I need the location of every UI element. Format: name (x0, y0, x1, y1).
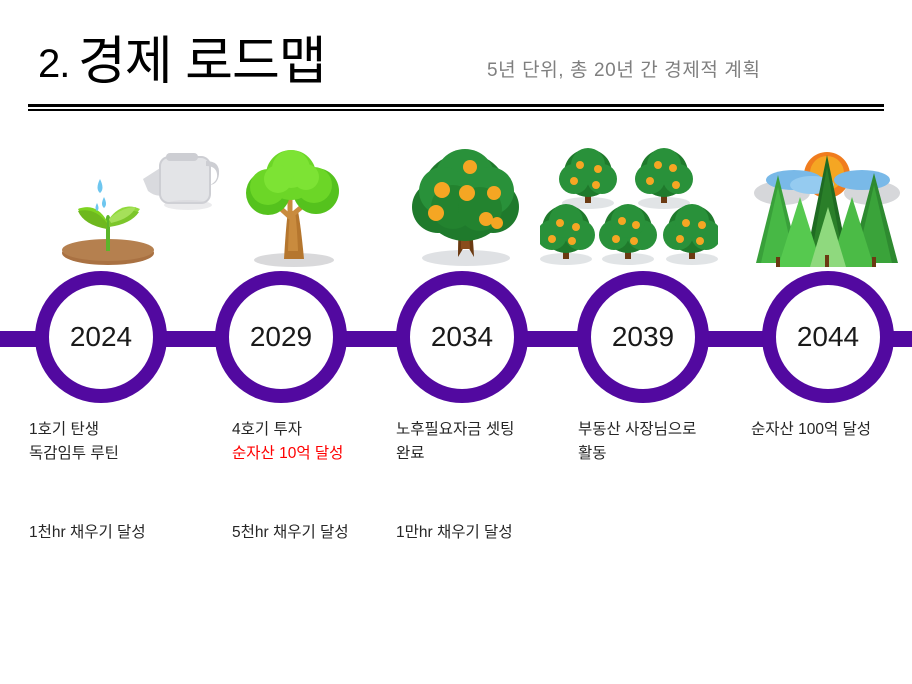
timeline-node-year: 2034 (431, 321, 493, 353)
timeline-node-2024[interactable]: 2024 (35, 271, 167, 403)
timeline-node-year: 2029 (250, 321, 312, 353)
caption-line-highlight: 순자산 10억 달성 (232, 442, 392, 466)
caption-line: 1호기 탄생 (29, 418, 214, 442)
fruit-tree-icon (398, 145, 533, 270)
icon-slot-2034 (398, 145, 533, 270)
icon-slot-2039 (540, 145, 718, 270)
header-divider (28, 104, 884, 111)
divider-thin-rule (28, 109, 884, 111)
caption-column-2024: 1호기 탄생 독감임투 루틴 1천hr 채우기 달성 (29, 418, 214, 466)
title-number: 2. (38, 44, 69, 84)
caption-column-2039: 부동산 사장님으로 활동 (578, 418, 733, 466)
icon-slot-2029 (228, 145, 358, 270)
page-title: 경제 로드맵 (78, 36, 326, 88)
timeline-node-year: 2039 (612, 321, 674, 353)
milestone-captions: 1호기 탄생 독감임투 루틴 1천hr 채우기 달성 4호기 투자 순자산 10… (0, 418, 912, 568)
caption-line: 독감임투 루틴 (29, 442, 214, 466)
caption-line: 순자산 100억 달성 (751, 418, 912, 442)
timeline-node-2034[interactable]: 2034 (396, 271, 528, 403)
divider-thick-rule (28, 104, 884, 107)
caption-line: 활동 (578, 442, 733, 466)
timeline-node-year: 2044 (797, 321, 859, 353)
timeline-node-2044[interactable]: 2044 (762, 271, 894, 403)
orchard-five-trees-icon (540, 145, 718, 270)
timeline-node-year: 2024 (70, 321, 132, 353)
caption-line: 4호기 투자 (232, 418, 392, 442)
slide-header: 2. 경제 로드맵 5년 단위, 총 20년 간 경제적 계획 (0, 0, 912, 120)
milestone-icons-row (0, 145, 912, 270)
caption-line: 노후필요자금 셋팅 (396, 418, 561, 442)
timeline-node-2029[interactable]: 2029 (215, 271, 347, 403)
roadmap-timeline: 2024 2029 2034 2039 2044 (0, 265, 912, 410)
caption-line: 부동산 사장님으로 (578, 418, 733, 442)
pine-forest-sun-icon (742, 145, 912, 270)
caption-column-2044: 순자산 100억 달성 (751, 418, 912, 442)
caption-column-2029: 4호기 투자 순자산 10억 달성 5천hr 채우기 달성 (232, 418, 392, 466)
slide-subtitle: 5년 단위, 총 20년 간 경제적 계획 (487, 61, 761, 80)
caption-hours-goal: 1만hr 채우기 달성 (396, 522, 513, 544)
icon-slot-2024 (48, 145, 223, 270)
caption-hours-goal: 5천hr 채우기 달성 (232, 522, 349, 544)
slide-canvas: 2. 경제 로드맵 5년 단위, 총 20년 간 경제적 계획 (0, 0, 912, 684)
young-tree-icon (228, 145, 358, 270)
caption-column-2034: 노후필요자금 셋팅 완료 1만hr 채우기 달성 (396, 418, 561, 466)
caption-hours-goal: 1천hr 채우기 달성 (29, 522, 146, 544)
icon-slot-2044 (742, 145, 912, 270)
caption-line: 완료 (396, 442, 561, 466)
timeline-node-2039[interactable]: 2039 (577, 271, 709, 403)
sprout-watering-can-icon (48, 145, 223, 270)
